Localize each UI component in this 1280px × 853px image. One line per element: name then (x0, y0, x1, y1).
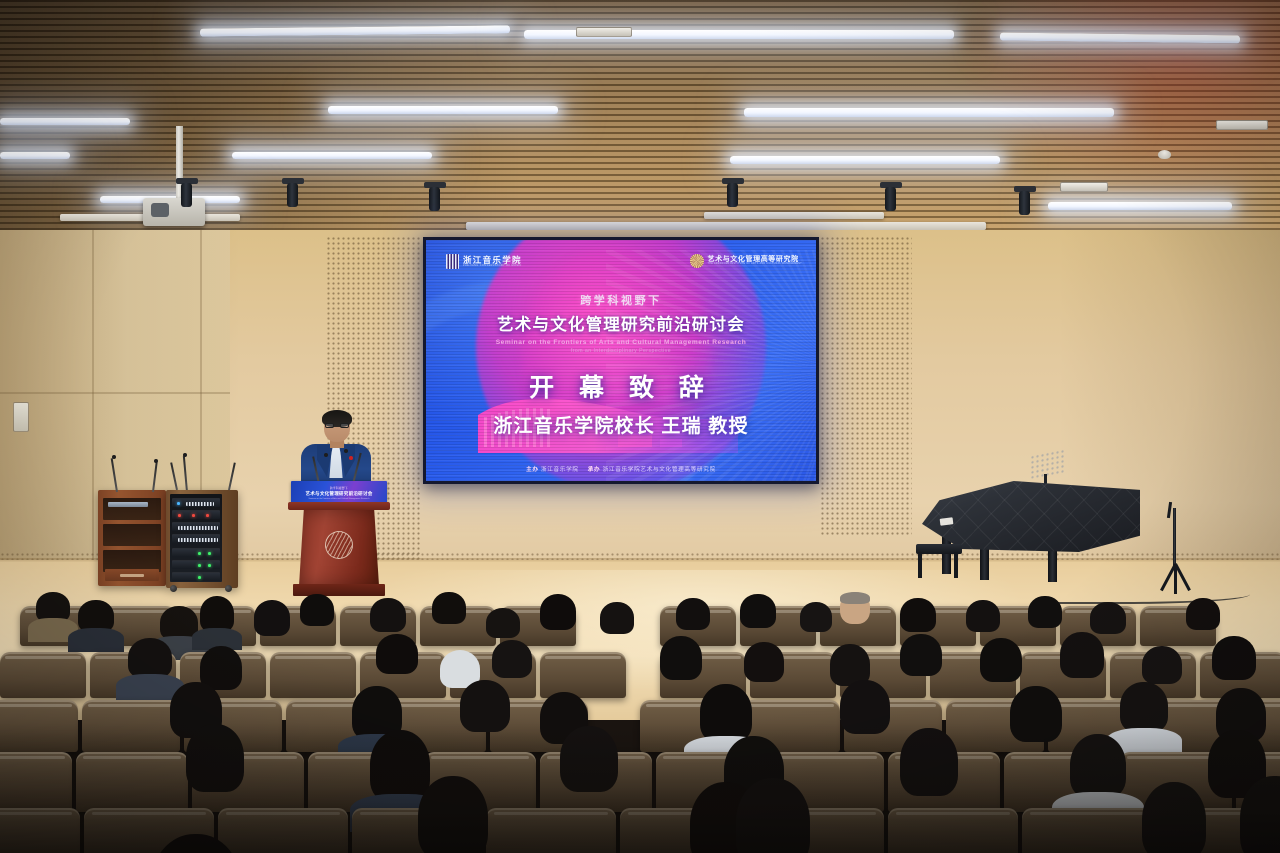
ceiling-projector (143, 198, 205, 226)
ceiling-rail (704, 212, 884, 219)
zhejiang-conservatory-seal-icon (446, 254, 459, 269)
podium-microphone-head-icon (344, 449, 348, 453)
microphone-head-icon (112, 455, 116, 459)
glasses-icon (325, 423, 349, 428)
rack-caster (170, 585, 177, 592)
podium: 跨学科视野下 艺术与文化管理研究前沿研讨会 Seminar on the Fro… (291, 481, 387, 599)
cabinet-handle-icon[interactable] (120, 574, 144, 577)
ceiling-vent (1216, 120, 1268, 130)
conservatory-crest-icon (325, 531, 353, 559)
projector-lens-icon (151, 203, 169, 217)
av-rack (166, 490, 238, 588)
av-rack-face (170, 494, 222, 582)
rack-unit-receiver-b[interactable] (172, 560, 220, 569)
seat[interactable] (76, 752, 188, 812)
fluorescent-tube (0, 118, 130, 125)
podium-microphone-head-icon (324, 453, 328, 457)
microphone-stand-leg (1174, 563, 1190, 591)
microphone-stand-pole (1173, 508, 1176, 570)
screen-kicker: 跨学科视野下 (426, 292, 816, 308)
track-spotlight (726, 178, 738, 208)
seat[interactable] (0, 700, 78, 752)
music-stand-plate (1030, 449, 1064, 480)
seat[interactable] (486, 808, 616, 853)
seat[interactable] (540, 652, 626, 698)
seat[interactable] (270, 652, 356, 698)
screen-logo-right: 艺术与文化管理高等研究院 THE ADVANCED INSTITUTE OF A… (690, 254, 803, 268)
ceiling-vent (1060, 182, 1108, 192)
track-spotlight (428, 182, 440, 212)
fluorescent-tube (232, 152, 432, 159)
seat[interactable] (888, 808, 1018, 853)
podium-banner-title: 艺术与文化管理研究前沿研讨会 (291, 491, 387, 497)
seat[interactable] (1022, 808, 1152, 853)
screen-subtitle-en-1: Seminar on the Frontiers of Arts and Cul… (426, 339, 816, 346)
rack-unit-amplifier[interactable] (172, 498, 220, 507)
track-spotlight (286, 178, 298, 208)
screen-footer-organizer-label: 承办 (588, 467, 601, 473)
track-spotlight (1018, 186, 1030, 216)
screen-headline: 开 幕 致 辞 (426, 368, 816, 404)
piano-bench-leg (918, 552, 922, 578)
rack-unit-receiver-a[interactable] (172, 548, 220, 557)
podium-top (288, 502, 390, 510)
fluorescent-tube (730, 156, 1000, 164)
screen-footer: 主办 浙江音乐学院 承办 浙江音乐学院艺术与文化管理高等研究院 (426, 465, 816, 473)
screen-logo-right-en: THE ADVANCED INSTITUTE OF ARTS AND CULTU… (708, 263, 803, 266)
rack-unit-processor[interactable] (172, 522, 220, 531)
audience-seating (0, 596, 1280, 853)
microphone-boom-arm (1167, 502, 1172, 518)
seat[interactable] (0, 808, 80, 853)
microphone-head-icon (183, 453, 187, 457)
ceiling-vent (576, 27, 632, 37)
screen-title-cn: 艺术与文化管理研究前沿研讨会 (426, 311, 816, 335)
fluorescent-tube (1048, 202, 1232, 210)
ceiling-rail (466, 222, 986, 230)
auditorium-scene: 浙江音乐学院 ZHEJIANG CONSERVATORY OF MUSIC 艺术… (0, 0, 1280, 853)
screen-footer-organizer-value: 浙江音乐学院艺术与文化管理高等研究院 (603, 467, 716, 473)
podium-banner-kicker: 跨学科视野下 (291, 486, 387, 490)
rack-caster (225, 585, 232, 592)
seat[interactable] (0, 652, 86, 698)
cabinet-device (108, 502, 148, 507)
screen-subtitle-en-2: from an Interdisciplinary Perspective (426, 348, 816, 354)
piano-leg (942, 536, 951, 574)
screen-logo-left: 浙江音乐学院 ZHEJIANG CONSERVATORY OF MUSIC (446, 254, 522, 269)
screen-logo-left-en: ZHEJIANG CONSERVATORY OF MUSIC (463, 265, 522, 268)
seat[interactable] (0, 752, 72, 812)
podium-base (293, 584, 385, 596)
rack-unit-receiver-c[interactable] (172, 572, 220, 581)
rack-unit-equalizer[interactable] (172, 534, 220, 543)
rack-unit-mixer[interactable] (172, 510, 220, 519)
piano-cover-quilting (922, 478, 1140, 552)
seat[interactable] (82, 700, 180, 752)
institute-seal-icon (690, 254, 704, 268)
presenter-lapel-pin-icon (349, 456, 353, 460)
grand-piano (922, 478, 1140, 590)
fluorescent-tube (328, 106, 558, 114)
acoustic-perforated-panel (820, 236, 912, 536)
wall-control-plate[interactable] (13, 402, 29, 432)
fluorescent-tube (744, 108, 1114, 117)
screen-speaker-line: 浙江音乐学院校长 王瑞 教授 (426, 411, 816, 438)
screen-footer-host-label: 主办 (526, 467, 539, 473)
wooden-cabinet (98, 490, 166, 586)
track-spotlight (180, 178, 192, 208)
piano-bench-leg (954, 552, 958, 578)
microphone-head-icon (154, 459, 158, 463)
seat[interactable] (218, 808, 348, 853)
fluorescent-tube (0, 152, 70, 159)
podium-banner-en: Seminar on the Frontiers of Arts and Cul… (291, 498, 387, 500)
microphone-stand (1152, 508, 1198, 594)
screen-content: 跨学科视野下 艺术与文化管理研究前沿研讨会 Seminar on the Fro… (426, 292, 816, 438)
led-presentation-screen[interactable]: 浙江音乐学院 ZHEJIANG CONSERVATORY OF MUSIC 艺术… (423, 237, 819, 484)
smoke-detector-icon (1158, 150, 1171, 159)
track-spotlight (884, 182, 896, 212)
screen-footer-host-value: 浙江音乐学院 (541, 467, 579, 473)
